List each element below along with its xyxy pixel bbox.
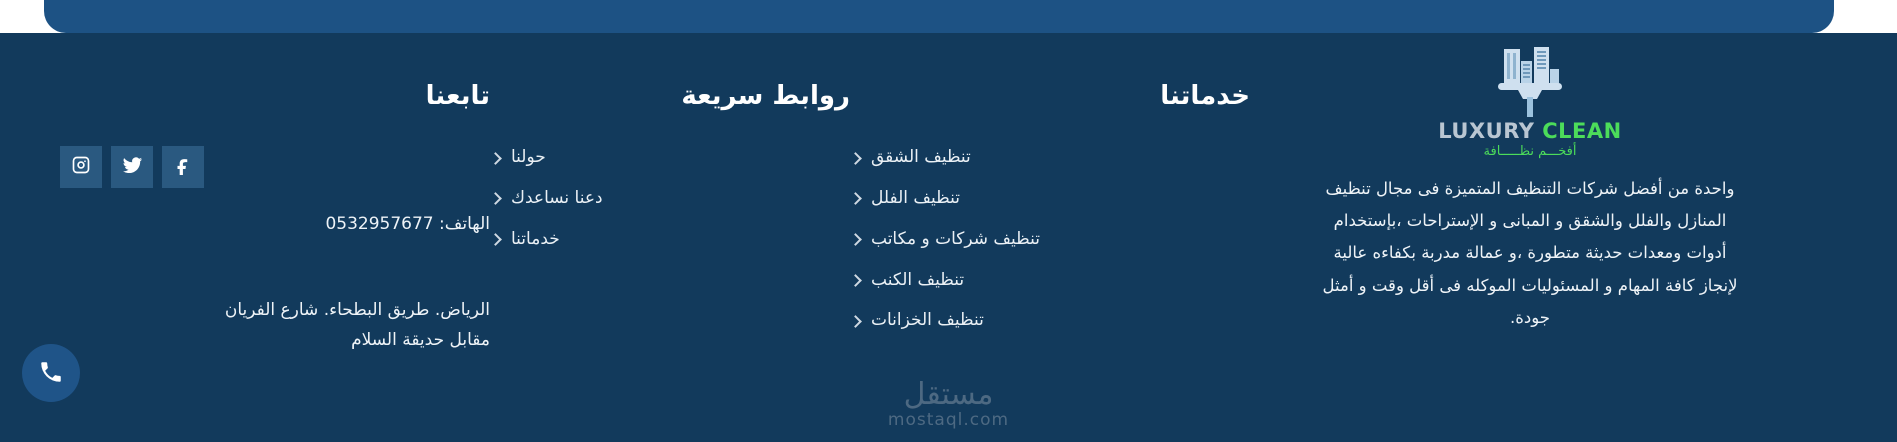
phone-number[interactable]: الهاتف: 0532957677 [60,214,490,234]
about-description: واحدة من أفضل شركات التنظيف المتميزة فى … [1250,173,1810,334]
quick-link-label: دعنا نساعدك [511,187,603,211]
services-list: تنظيف الشقق تنظيف الفلل تنظيف شركات و مك… [850,146,1250,333]
logo-wordmark: LUXURY CLEAN [1438,119,1621,143]
service-label: تنظيف شركات و مكاتب [871,228,1040,252]
phone-icon [38,359,64,388]
call-floating-button[interactable] [22,344,80,402]
service-item[interactable]: تنظيف الخزانات [850,309,1250,333]
footer-column-about: LUXURY CLEAN أفخـــم نظـــــافة واحدة من… [1250,33,1810,442]
social-facebook-button[interactable] [162,146,204,188]
service-item[interactable]: تنظيف الكنب [850,269,1250,293]
quick-links-list: حولنا دعنا نساعدك خدماتنا [490,146,850,251]
social-instagram-button[interactable] [60,146,102,188]
services-title: خدماتنا [850,81,1250,112]
chevron-left-icon [850,153,861,164]
quick-link-item[interactable]: دعنا نساعدك [490,187,850,211]
topbar-strip [0,0,1897,33]
service-label: تنظيف الشقق [871,146,971,170]
service-label: تنظيف الكنب [871,269,964,293]
service-item[interactable]: تنظيف الفلل [850,187,1250,211]
instagram-icon [71,155,91,179]
chevron-left-icon [490,234,501,245]
social-twitter-button[interactable] [111,146,153,188]
address-line-1: الرياض. طريق البطحاء. شارع الفريان [60,296,490,326]
footer-page: تابعنا [0,0,1897,442]
quick-link-item[interactable]: خدماتنا [490,228,850,252]
facebook-icon [173,155,193,179]
building-squeegee-logo-icon [1484,39,1576,117]
chevron-left-icon [850,316,861,327]
chevron-left-icon [850,234,861,245]
logo-word-first: LUXURY [1438,119,1534,143]
topbar-rounded-bar [44,0,1834,33]
footer-column-follow: تابعنا [60,33,490,442]
quick-link-item[interactable]: حولنا [490,146,850,170]
quick-links-title: روابط سريعة [490,81,850,112]
chevron-left-icon [490,153,501,164]
logo-tagline: أفخـــم نظـــــافة [1484,144,1577,159]
logo-word-second: CLEAN [1542,119,1621,143]
footer-column-services: خدماتنا تنظيف الشقق تنظيف الفلل تنظيف شر… [850,33,1250,442]
address-block: الرياض. طريق البطحاء. شارع الفريان مقابل… [60,296,490,356]
follow-title: تابعنا [60,81,490,112]
address-line-2: مقابل حديقة السلام [60,326,490,356]
footer-column-quick-links: روابط سريعة حولنا دعنا نساعدك خدماتنا [490,33,850,442]
site-logo[interactable]: LUXURY CLEAN أفخـــم نظـــــافة [1250,39,1810,159]
service-label: تنظيف الفلل [871,187,960,211]
service-label: تنظيف الخزانات [871,309,984,333]
quick-link-label: خدماتنا [511,228,560,252]
twitter-icon [122,155,143,180]
service-item[interactable]: تنظيف الشقق [850,146,1250,170]
social-links [60,146,490,188]
chevron-left-icon [490,193,501,204]
chevron-left-icon [850,275,861,286]
service-item[interactable]: تنظيف شركات و مكاتب [850,228,1250,252]
chevron-left-icon [850,193,861,204]
site-footer: تابعنا [0,33,1897,442]
quick-link-label: حولنا [511,146,546,170]
